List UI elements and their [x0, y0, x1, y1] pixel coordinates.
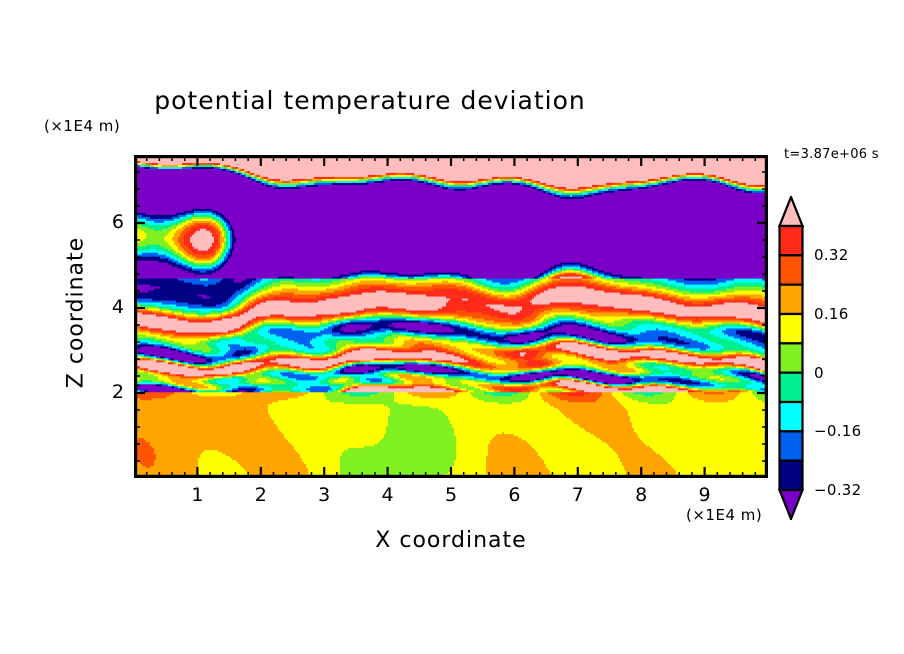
colorbar-tick-label: 0 [814, 364, 824, 382]
x-tick-label: 6 [499, 484, 529, 506]
x-tick-label: 2 [246, 484, 276, 506]
x-tick-label: 8 [626, 484, 656, 506]
colorbar-band [780, 226, 803, 255]
plot-title: potential temperature deviation [0, 86, 740, 115]
colorbar-tick-label: 0.32 [814, 246, 849, 264]
colorbar-band [780, 431, 803, 460]
x-axis-label: X coordinate [134, 528, 768, 553]
y-tick-label: 6 [98, 211, 124, 233]
colorbar [778, 196, 804, 520]
contour-plot-area [134, 155, 768, 478]
x-tick-label: 3 [309, 484, 339, 506]
x-tick-label: 9 [690, 484, 720, 506]
colorbar-extend-low [780, 490, 803, 519]
colorbar-band [780, 343, 803, 372]
colorbar-tick-label: −0.16 [814, 422, 861, 440]
colorbar-band [780, 285, 803, 314]
y-tick-label: 2 [98, 381, 124, 403]
x-tick-label: 7 [563, 484, 593, 506]
colorbar-band [780, 314, 803, 343]
colorbar-tick-label: −0.32 [814, 481, 861, 499]
y-axis-label: Z coordinate [64, 203, 89, 423]
x-tick-label: 5 [436, 484, 466, 506]
x-axis-unit-label: (×1E4 m) [686, 506, 762, 524]
colorbar-band [780, 255, 803, 284]
colorbar-extend-high [780, 197, 803, 226]
figure-canvas: potential temperature deviation (×1E4 m)… [0, 0, 904, 654]
x-tick-label: 1 [182, 484, 212, 506]
y-axis-unit-label: (×1E4 m) [44, 117, 120, 135]
colorbar-band [780, 402, 803, 431]
colorbar-tick-label: 0.16 [814, 305, 849, 323]
x-tick-label: 4 [373, 484, 403, 506]
colorbar-band [780, 373, 803, 402]
colorbar-band [780, 461, 803, 490]
time-annotation: t=3.87e+06 s [784, 147, 879, 162]
y-tick-label: 4 [98, 296, 124, 318]
